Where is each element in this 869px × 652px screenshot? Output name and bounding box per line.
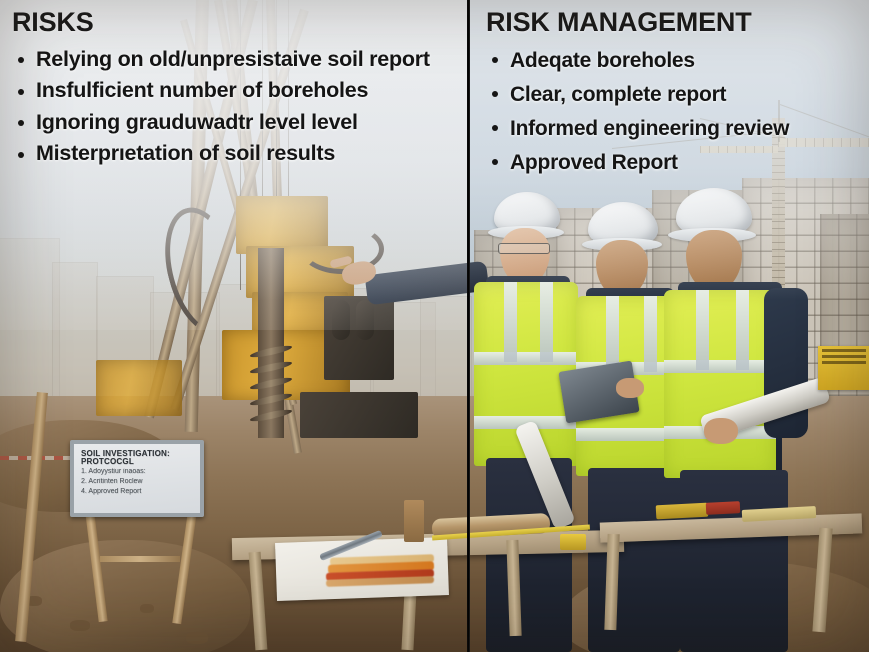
soil-sample-jar xyxy=(404,500,424,542)
vest-stripe xyxy=(504,282,517,362)
soil-investigation-sign: SOIL INVESTIGATION: PROTCOCGL 1. Adoyyst… xyxy=(70,440,204,517)
risks-bullet-list: Relying on old/unpresistaive soil report… xyxy=(8,44,466,169)
risk-management-bullet-item: Informed engineering review xyxy=(482,112,864,145)
vest-stripe xyxy=(664,360,776,373)
risk-management-bullet-item: Approved Report xyxy=(482,146,864,179)
risk-management-heading: RISK MANAGEMENT xyxy=(486,8,864,38)
vest-stripe xyxy=(696,290,709,370)
hi-vis-vest xyxy=(664,290,776,478)
sign-line xyxy=(822,355,866,358)
excavator-body xyxy=(96,360,182,416)
rig-track xyxy=(300,392,418,438)
yellow-site-sign xyxy=(818,346,869,390)
risks-bullet-item: Relying on old/unpresistaive soil report xyxy=(8,44,466,75)
risks-heading: RISKS xyxy=(12,8,466,38)
vest-stripe xyxy=(606,296,619,372)
rig-cylinder xyxy=(332,300,350,340)
vest-stripe xyxy=(540,282,553,362)
sign-item: 2. Acritinten Roclew xyxy=(81,478,193,487)
slide-canvas: SOIL INVESTIGATION: PROTCOCGL 1. Adoyyst… xyxy=(0,0,869,652)
easel-crossbar xyxy=(100,556,180,562)
risk-management-bullet-list: Adeqate boreholes Clear, complete report… xyxy=(482,44,864,180)
hand xyxy=(704,418,738,444)
rubble xyxy=(70,620,90,631)
hand xyxy=(616,378,644,398)
sign-line xyxy=(822,361,866,364)
rubble xyxy=(140,604,154,613)
rig-cylinder xyxy=(356,300,374,340)
sign-title-line2: PROTCOCGL xyxy=(81,458,193,466)
risk-management-column: RISK MANAGEMENT Adeqate boreholes Clear,… xyxy=(482,8,864,180)
vest-stripe xyxy=(644,296,657,372)
sign-item: 1. Adoyystiur inaoas: xyxy=(81,468,193,477)
hand-tool xyxy=(656,503,709,520)
risks-bullet-item: Insfulficient number of boreholes xyxy=(8,75,466,106)
sign-item: 4. Approved Report xyxy=(81,488,193,497)
trousers xyxy=(680,470,788,652)
risk-management-bullet-item: Clear, complete report xyxy=(482,78,864,111)
eyeglasses xyxy=(498,243,550,254)
vest-stripe xyxy=(474,352,578,365)
hand-tool xyxy=(706,501,741,515)
risks-bullet-item: Ignoring grauduwadtr level level xyxy=(8,107,466,138)
risks-column: RISKS Relying on old/unpresistaive soil … xyxy=(8,8,466,170)
risk-management-bullet-item: Adeqate boreholes xyxy=(482,44,864,77)
risks-bullet-item: Misterprıetation of soil results xyxy=(8,138,466,169)
vest-stripe xyxy=(736,290,749,370)
tape-measure-case xyxy=(560,534,586,550)
rubble xyxy=(186,632,208,644)
sign-line xyxy=(822,349,866,352)
trousers xyxy=(588,468,680,652)
column-divider xyxy=(467,0,470,652)
